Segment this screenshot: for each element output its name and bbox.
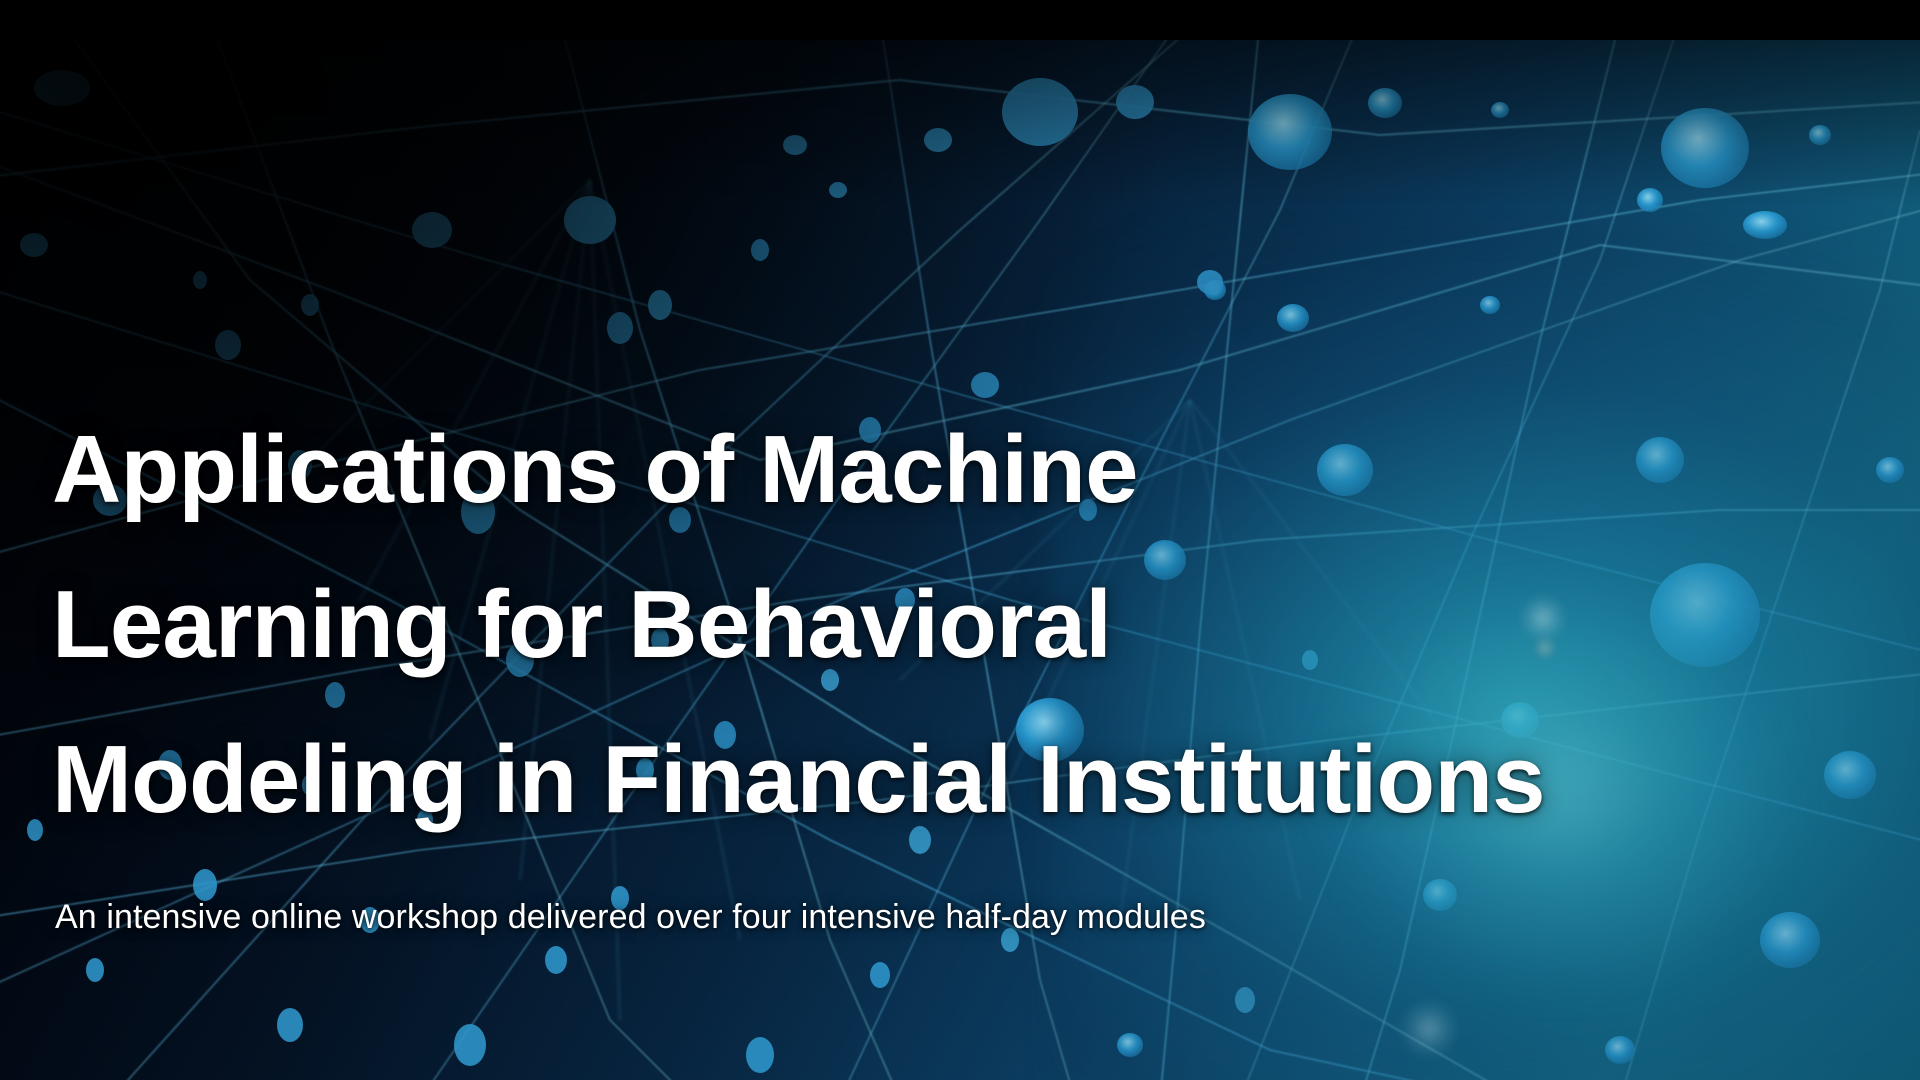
title-slide: Applications of Machine Learning for Beh… — [0, 0, 1920, 1080]
letterbox-bar-top — [0, 0, 1920, 40]
slide-content: Applications of Machine Learning for Beh… — [0, 0, 1920, 1080]
slide-subtitle: An intensive online workshop delivered o… — [55, 898, 1206, 937]
page-title: Applications of Machine Learning for Beh… — [52, 392, 1912, 857]
